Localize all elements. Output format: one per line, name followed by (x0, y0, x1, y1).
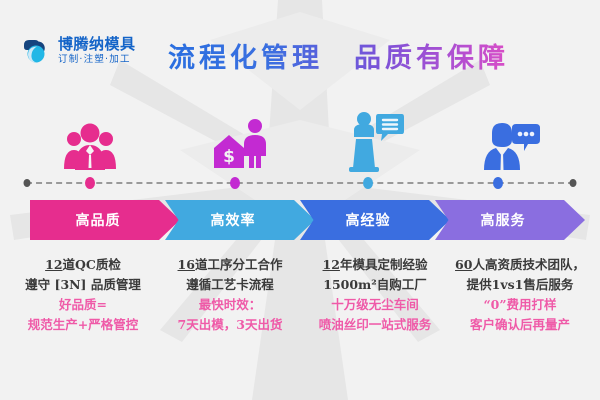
icon-slot-4 (450, 100, 570, 172)
timeline (0, 176, 600, 190)
column-line: 遵循工艺卡流程 (155, 275, 305, 295)
line-rest: 人高资质技术团队， (472, 257, 585, 272)
highlight-number: 16 (178, 257, 195, 272)
speaker-podium-icon (346, 110, 404, 172)
icon-slot-3 (315, 100, 435, 172)
highlight-number: 60 (455, 257, 472, 272)
timeline-cap-right (570, 179, 577, 187)
timeline-cap-left (24, 179, 31, 187)
icon-slot-2: $ (180, 100, 300, 172)
icon-slot-1 (30, 100, 150, 172)
page-title: 流程化管理 品质有保障 (168, 36, 508, 76)
column-line: 十万级无尘车间 (300, 295, 450, 315)
column-line: 提供1vs1售后服务 (445, 275, 595, 295)
banner-label: 高品质 (76, 210, 121, 230)
column-line: 16道工序分工合作 (155, 255, 305, 275)
brand-logo-mark (22, 36, 52, 66)
column-line: 12年模具定制经验 (300, 255, 450, 275)
line-rest: 道工序分工合作 (195, 257, 283, 272)
timeline-dot-4[interactable] (493, 177, 503, 189)
column-line: 遵守 [3N] 品质管理 (8, 275, 158, 295)
brand-tagline: 订制·注塑·加工 (58, 55, 136, 65)
column-line: 60人高资质技术团队， (445, 255, 595, 275)
banner-service[interactable]: 高服务 (435, 200, 585, 240)
banner-efficiency[interactable]: 高效率 (165, 200, 315, 240)
column-line: 客户确认后再量产 (445, 315, 595, 335)
column-experience: 12年模具定制经验 1500m²自购工厂 十万级无尘车间 喷油丝印一站式服务 (300, 255, 450, 335)
highlight-number: 12 (323, 257, 340, 272)
timeline-dot-3[interactable] (363, 177, 373, 189)
banner-experience[interactable]: 高经验 (300, 200, 450, 240)
banner-label: 高服务 (481, 210, 526, 230)
column-line: 最快时效： (155, 295, 305, 315)
timeline-dot-1[interactable] (85, 177, 95, 189)
column-line: “0”费用打样 (445, 295, 595, 315)
column-service: 60人高资质技术团队， 提供1vs1售后服务 “0”费用打样 客户确认后再量产 (445, 255, 595, 335)
timeline-dashed-line (26, 182, 574, 184)
highlight-number: 12 (45, 257, 62, 272)
group-of-people-icon (61, 122, 119, 172)
banner-label: 高经验 (346, 210, 391, 230)
line-rest: 道QC质检 (63, 257, 121, 272)
brand-logo[interactable]: 博腾纳模具 订制·注塑·加工 (22, 36, 136, 66)
header: 博腾纳模具 订制·注塑·加工 流程化管理 品质有保障 (0, 0, 600, 96)
detail-columns: 12道QC质检 遵守 [3N] 品质管理 好品质= 规范生产+严格管控 16道工… (0, 255, 600, 365)
banner-label: 高效率 (211, 210, 256, 230)
column-efficiency: 16道工序分工合作 遵循工艺卡流程 最快时效： 7天出模，3天出货 (155, 255, 305, 335)
svg-text:$: $ (223, 147, 235, 167)
icon-row: $ (0, 100, 600, 172)
column-line: 12道QC质检 (8, 255, 158, 275)
column-line: 1500m²自购工厂 (300, 275, 450, 295)
businessperson-chat-icon (480, 120, 540, 172)
column-quality: 12道QC质检 遵守 [3N] 品质管理 好品质= 规范生产+严格管控 (8, 255, 158, 335)
poster-canvas: 博腾纳模具 订制·注塑·加工 流程化管理 品质有保障 (0, 0, 600, 400)
column-line: 规范生产+严格管控 (8, 315, 158, 335)
column-line: 好品质= (8, 295, 158, 315)
banner-row: 高品质 高效率 高经验 高服务 (0, 200, 600, 242)
timeline-dot-2[interactable] (230, 177, 240, 189)
line-rest: 年模具定制经验 (340, 257, 428, 272)
column-line: 喷油丝印一站式服务 (300, 315, 450, 335)
house-with-person-icon: $ (210, 116, 270, 172)
banner-quality[interactable]: 高品质 (30, 200, 180, 240)
brand-company-name: 博腾纳模具 (58, 37, 136, 52)
column-line: 7天出模，3天出货 (155, 315, 305, 335)
